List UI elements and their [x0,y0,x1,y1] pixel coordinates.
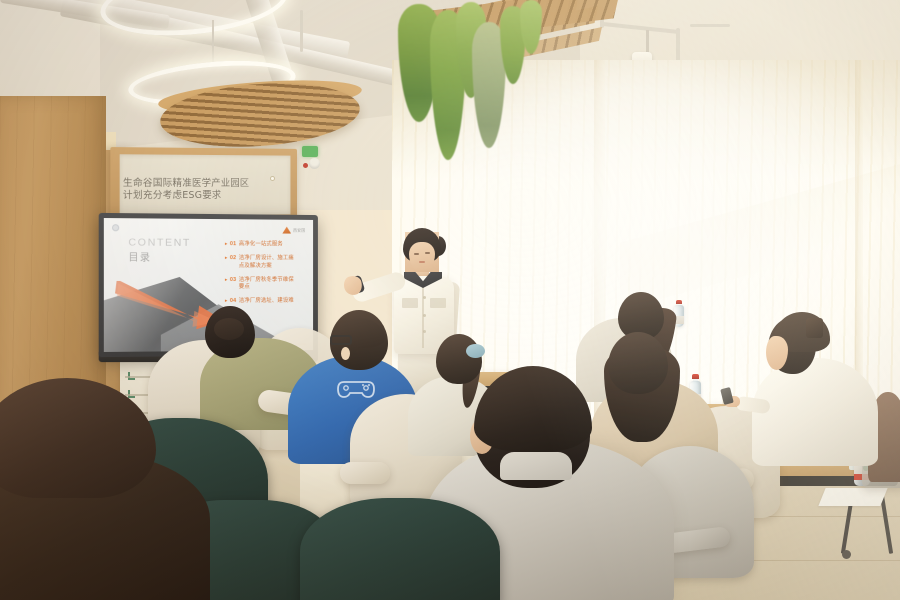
alarm-indicator-icon [303,163,308,168]
paper-document [818,488,887,506]
toc-item: ▸ 04 洁净厂房选址、建设难 [225,298,313,306]
toc-item: ▸ 01 高净化一站式服务 [225,241,313,249]
hair-tie-icon [466,344,485,358]
attendee-olive-hair [214,318,244,340]
toc-number: 01 [230,241,236,249]
jacket-placket [422,282,424,348]
toc-label: 洁净厂房秋冬季节维保 要点 [239,277,294,292]
conference-room-photo: 生命谷国际精准医学产业园区 计划充分考虑ESG要求 [0,0,900,600]
chair-armrest [340,462,390,484]
presenter-eye [414,253,419,255]
attendee-beige-head [608,332,668,394]
display-camera-icon [112,224,119,231]
toc-label: 高净化一站式服务 [239,241,283,249]
slide-table-of-contents: ▸ 01 高净化一站式服务 ▸ 02 洁净厂房设计、施工痛 点及解决方案 ▸ 0… [225,241,313,312]
attendee-ponytail-head [436,334,482,384]
pendant-cord [212,20,214,66]
attendee-phone-torso [752,358,878,466]
toc-label: 洁净厂房设计、施工痛 点及解决方案 [239,255,294,270]
sign-fastener [270,176,275,181]
hair-clip-icon [806,318,823,338]
toc-number: 04 [230,298,236,305]
attendee-gray-collar [500,452,572,480]
table-caster [842,550,851,559]
presenter-mouth [419,261,425,263]
toc-number: 02 [230,255,236,262]
toc-item: ▸ 02 洁净厂房设计、施工痛 点及解决方案 [225,255,313,270]
jacket-pocket [402,298,418,308]
caret-icon: ▸ [225,277,227,284]
ceiling-conduit [690,24,730,27]
game-controller-icon [336,376,376,402]
toc-number: 03 [230,277,236,284]
attendee-blue-ear [341,347,350,360]
emergency-exit-sign [302,146,318,157]
venue-sign-text: 生命谷国际精准医学产业园区 计划充分考虑ESG要求 [123,178,284,202]
caret-icon: ▸ [225,298,227,305]
eyeglasses-icon [330,335,352,345]
presenter-eye [425,252,430,254]
toc-item: ▸ 03 洁净厂房秋冬季节维保 要点 [225,277,313,292]
logo-text: 西安国 [293,227,305,233]
slide-title-english: CONTENT [128,236,191,248]
venue-sign-line2: 计划充分考虑ESG要求 [123,190,284,202]
bottle-cap [676,300,682,304]
slide-title-chinese: 目录 [128,249,151,264]
ceiling-pipe [300,10,303,52]
slide-logo: 西安国 [282,227,305,234]
jacket-pocket [430,298,446,308]
chair-dark-green [300,498,500,600]
caret-icon: ▸ [225,255,227,262]
caret-icon: ▸ [225,241,227,248]
logo-mark-icon [282,227,291,234]
toc-label: 洁净厂房选址、建设难 [239,298,294,306]
venue-sign-line1: 生命谷国际精准医学产业园区 [123,178,284,190]
smoke-detector-icon [309,158,320,169]
